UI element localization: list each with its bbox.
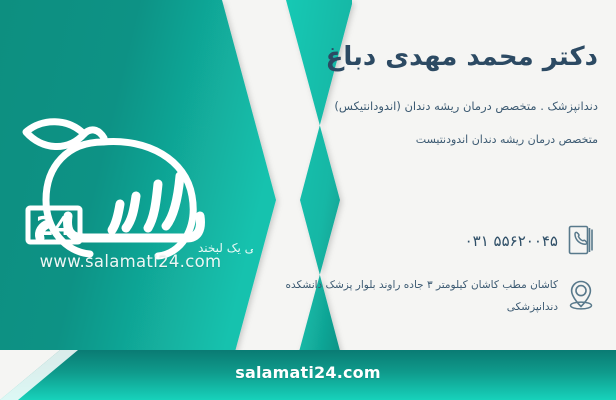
footer-website-url[interactable]: salamati24.com [235, 363, 381, 388]
contact-row-phone[interactable]: ۰۳۱ ۵۵۶۲۰۰۴۵ [226, 221, 598, 259]
phone-book-icon [564, 221, 598, 259]
phone-number: ۰۳۱ ۵۵۶۲۰۰۴۵ [465, 232, 558, 250]
doctor-specialty-primary: دندانپزشک . متخصص درمان ریشه دندان (اندو… [226, 75, 598, 115]
doctor-specialty-secondary: متخصص درمان ریشه دندان اندودنتیست [226, 115, 598, 149]
card-content: دکتر محمد مهدی دباغ دندانپزشک . متخصص در… [226, 0, 598, 344]
footer-notch [0, 350, 130, 400]
logo-website-url: www.salamati24.com [8, 252, 253, 271]
footer-bar: salamati24.com [0, 350, 616, 400]
contact-row-address[interactable]: کاشان مطب کاشان کیلومتر ۳ جاده راوند بلو… [226, 273, 598, 316]
salamati24-logo: 24 براحتی یک لبخند www.salamati24.com [8, 104, 253, 282]
business-card: 24 براحتی یک لبخند www.salamati24.com دک… [0, 0, 616, 400]
svg-text:24: 24 [36, 212, 72, 242]
clinic-address: کاشان مطب کاشان کیلومتر ۳ جاده راوند بلو… [286, 279, 558, 312]
map-pin-icon [564, 276, 598, 314]
contact-block: ۰۳۱ ۵۵۶۲۰۰۴۵ کاشان مطب کاشان کیلومتر ۳ ج… [226, 221, 598, 330]
doctor-name: دکتر محمد مهدی دباغ [226, 0, 598, 75]
